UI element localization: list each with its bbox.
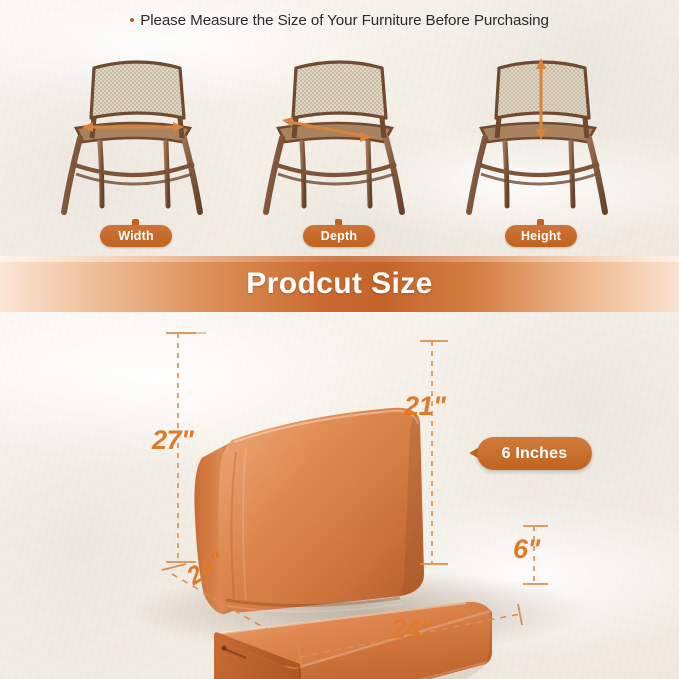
badge-6-inches: 6 Inches: [477, 437, 592, 470]
badge-height: Height: [505, 225, 577, 247]
chair-illustration-depth: [252, 46, 427, 246]
chair-illustration-height: [455, 46, 630, 246]
banner-title: Prodcut Size: [246, 267, 433, 301]
label-24-inches-width: 24": [391, 614, 432, 645]
chair-width: [50, 46, 225, 246]
product-size-section: 6 Inches: [0, 312, 679, 679]
chair-illustration-width: [50, 46, 225, 246]
chair-height: [455, 46, 630, 246]
product-size-banner: Prodcut Size: [0, 256, 679, 312]
label-21-inches: 21": [404, 391, 445, 422]
headline: Please Measure the Size of Your Furnitur…: [0, 12, 679, 29]
badge-width: Width: [100, 225, 172, 247]
dimension-lines: [0, 312, 679, 679]
bullet-dot-icon: [130, 18, 134, 22]
measure-furniture-section: Please Measure the Size of Your Furnitur…: [0, 0, 679, 256]
badge-depth: Depth: [303, 225, 375, 247]
label-6-inches-thick: 6": [513, 534, 540, 565]
headline-text: Please Measure the Size of Your Furnitur…: [140, 12, 549, 29]
dimension-21: [420, 341, 448, 564]
chair-depth: [252, 46, 427, 246]
product-size-infographic: Please Measure the Size of Your Furnitur…: [0, 0, 679, 679]
label-27-inches: 27": [152, 425, 193, 456]
